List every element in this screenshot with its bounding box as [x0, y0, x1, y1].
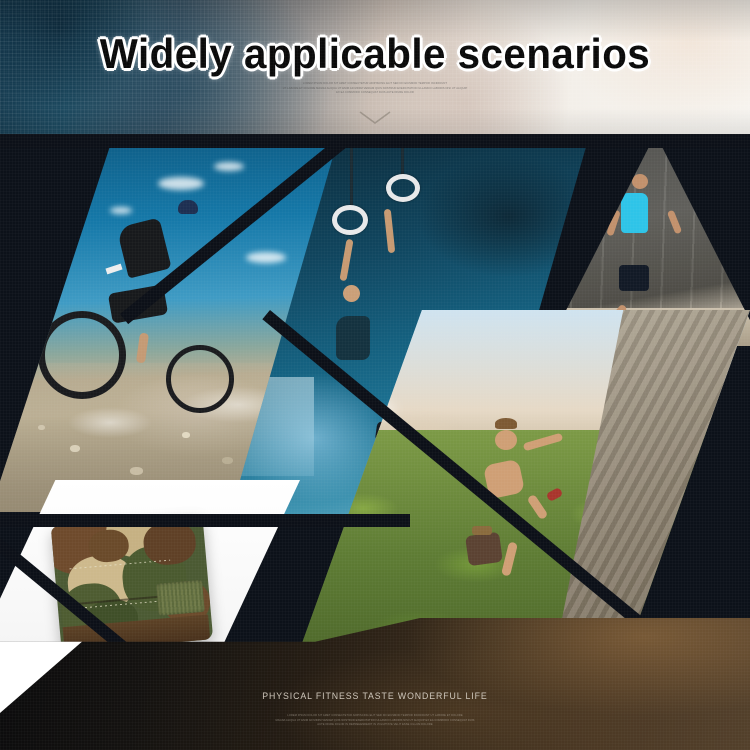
mosaic-seam	[0, 514, 410, 527]
hero-subtitle-line: UT LABORE ET DOLORE MAGNA ALIQUA UT ENIM…	[175, 87, 575, 91]
hero-subtitle-line: EX EA COMMODO CONSEQUAT DUIS AUTE IRURE …	[175, 91, 575, 95]
hero-banner: Widely applicable scenarios LOREM IPSUM …	[0, 0, 750, 138]
mosaic-seam	[0, 134, 750, 148]
page-title: Widely applicable scenarios	[15, 30, 735, 78]
product-pouch	[51, 514, 213, 653]
hero-subtitle-line: LOREM IPSUM DOLOR SIT AMET CONSECTETUR A…	[175, 82, 575, 86]
promo-poster: Widely applicable scenarios LOREM IPSUM …	[0, 0, 750, 750]
scenario-mosaic: PHYSICAL FITNESS TASTE WONDERFUL LIFE LO…	[0, 134, 750, 750]
footer-subtitle-line: LOREM IPSUM DOLOR SIT AMET CONSECTETUR A…	[115, 714, 635, 718]
chevron-down-icon	[358, 110, 392, 125]
footer-subtitle: LOREM IPSUM DOLOR SIT AMET CONSECTETUR A…	[115, 714, 635, 728]
hero-subtitle: LOREM IPSUM DOLOR SIT AMET CONSECTETUR A…	[175, 82, 575, 96]
footer-subtitle-line: MAGNA ALIQUA UT ENIM AD MINIM VENIAM QUI…	[115, 719, 635, 723]
footer-tagline: PHYSICAL FITNESS TASTE WONDERFUL LIFE	[30, 691, 720, 702]
footer-subtitle-line: AUTE IRURE DOLOR IN REPREHENDERIT IN VOL…	[115, 723, 635, 727]
